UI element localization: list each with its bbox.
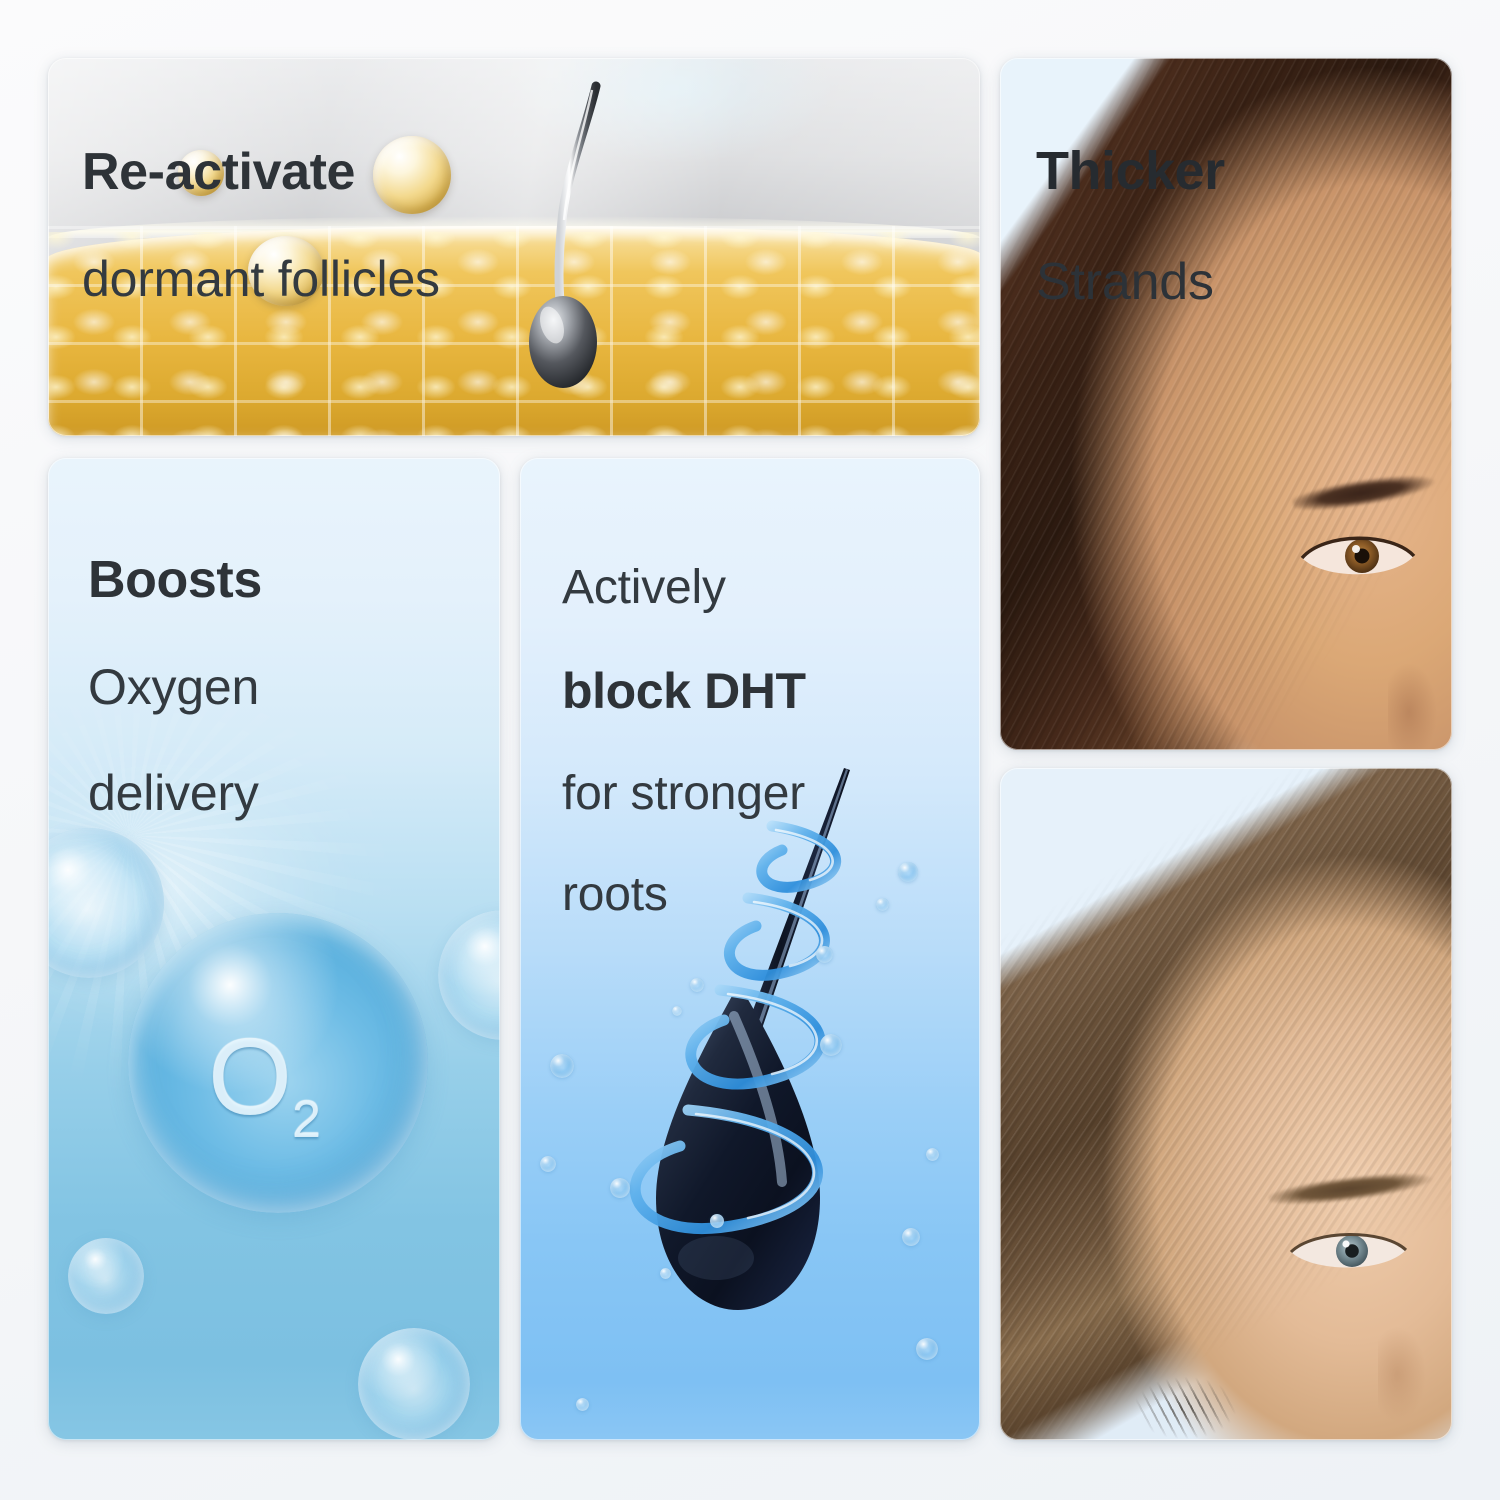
headline-thicker-strands: Thicker Strands xyxy=(1036,88,1225,366)
headline-line-bold: Boosts xyxy=(88,553,262,608)
water-droplet xyxy=(710,1214,724,1228)
oxygen-bubble-small xyxy=(68,1238,144,1314)
water-droplet xyxy=(898,862,918,882)
water-droplet xyxy=(816,946,833,963)
stubble-texture xyxy=(1120,1368,1250,1440)
headline-reactivate-follicles: Re-activate dormant follicles xyxy=(82,92,440,359)
headline-line-light-1: Oxygen xyxy=(88,661,262,714)
water-droplet xyxy=(916,1338,938,1360)
hair-shaft-illustration xyxy=(500,80,542,380)
water-droplet xyxy=(876,898,889,911)
oxygen-bubble-bottom-right xyxy=(358,1328,470,1440)
water-droplet xyxy=(610,1178,630,1198)
panel-man-portrait xyxy=(1000,768,1452,1440)
o2-symbol: O xyxy=(208,1016,290,1137)
nose-shading xyxy=(1378,1320,1452,1438)
water-droplet xyxy=(902,1228,920,1246)
infographic-board: Re-activate dormant follicles xyxy=(0,0,1500,1500)
water-droplet xyxy=(926,1148,939,1161)
water-droplet xyxy=(672,1006,682,1016)
headline-line-light-1: Actively xyxy=(562,563,806,614)
o2-molecule-label: O2 xyxy=(208,1014,319,1150)
headline-line-light-2: delivery xyxy=(88,767,262,820)
headline-line-light: dormant follicles xyxy=(82,253,440,306)
water-droplet xyxy=(820,1034,842,1056)
water-droplet xyxy=(690,978,704,992)
o2-subscript: 2 xyxy=(292,1091,319,1149)
headline-line-bold: Re-activate xyxy=(82,145,440,200)
headline-line-light-3: roots xyxy=(562,870,806,921)
headline-block-dht: Actively block DHT for stronger roots xyxy=(562,512,806,972)
headline-boosts-oxygen: Boosts Oxygen delivery xyxy=(88,500,262,873)
headline-line-light-2: for stronger xyxy=(562,769,806,820)
water-droplet xyxy=(540,1156,556,1172)
headline-line-light: Strands xyxy=(1036,255,1225,310)
headline-line-bold: block DHT xyxy=(562,665,806,718)
water-droplet xyxy=(550,1054,574,1078)
water-droplet xyxy=(576,1398,589,1411)
nose-shading xyxy=(1388,658,1452,750)
headline-line-bold: Thicker xyxy=(1036,143,1225,200)
eye-brown xyxy=(1300,530,1418,582)
eye-grey xyxy=(1288,1226,1410,1276)
water-droplet xyxy=(660,1268,671,1279)
